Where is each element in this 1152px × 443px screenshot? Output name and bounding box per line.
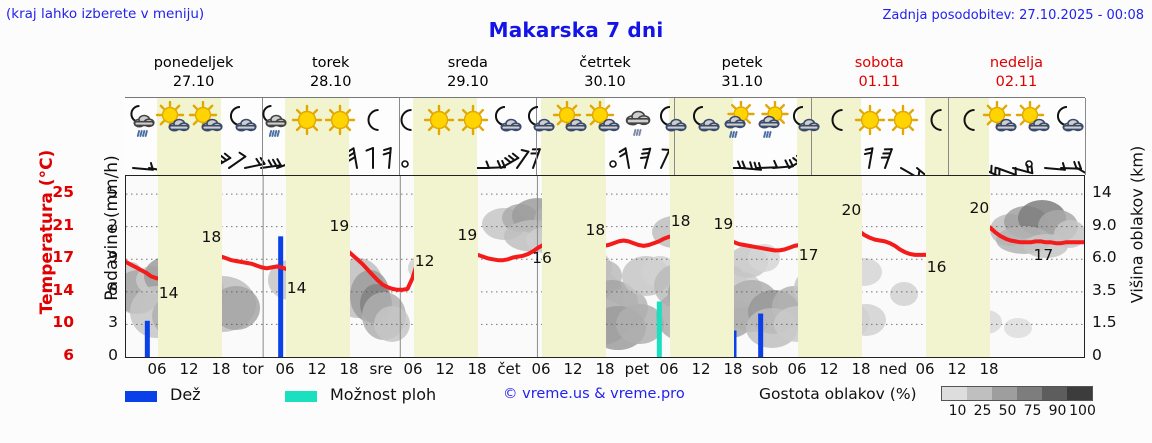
cloud-scale-label: 50 [994,403,1022,419]
temperature-value-label: 17 [1031,246,1055,264]
day-name: nedelja [948,52,1085,73]
temperature-tick: 25 [38,183,74,201]
day-separator [1085,142,1086,175]
temperature-value-label: 19 [455,226,479,244]
day-header-ponedeljek: ponedeljek27.10 [125,52,262,96]
day-separator [674,142,675,175]
x-tick-label: 18 [969,360,1009,378]
cloud-height-tick: 6.0 [1092,248,1132,266]
cloud-density-legend-title: Gostota oblakov (%) [759,385,917,403]
day-name: četrtek [536,52,673,73]
day-header-četrtek: četrtek30.10 [536,52,673,96]
cloud-height-tick: 0 [1092,346,1132,364]
weather-icon-row [125,97,1085,142]
day-date: 29.10 [399,73,536,92]
precipitation-tick: 0 [88,346,118,364]
rain-legend-swatch [125,391,157,402]
day-date: 02.11 [948,73,1085,92]
temperature-value-label: 14 [157,284,181,302]
day-name: sreda [399,52,536,73]
temperature-value-label: 16 [530,249,554,267]
precipitation-tick: 9 [88,248,118,266]
meteogram-plot: 141814191219161818191720162017 [125,175,1085,358]
temperature-tick: 10 [38,313,74,331]
day-name: petek [674,52,811,73]
day-date: 27.10 [125,73,262,92]
legend: Dež Možnost ploh © vreme.us & vreme.pro … [125,385,1145,435]
day-name: ponedeljek [125,52,262,73]
showers-legend-swatch [285,391,317,402]
temperature-value-label: 12 [413,252,437,270]
precipitation-tick: 3 [88,313,118,331]
temperature-value-label: 19 [327,217,351,235]
precipitation-tick: 6 [88,281,118,299]
cloud-scale-segment [992,387,1017,400]
cloud-height-tick: 1.5 [1092,313,1132,331]
temperature-value-label: 18 [199,228,223,246]
day-name: torek [262,52,399,73]
daytime-band [286,176,350,357]
day-header-torek: torek28.10 [262,52,399,96]
precipitation-tick: 5 [88,183,118,201]
daytime-band [158,176,222,357]
day-header-sreda: sreda29.10 [399,52,536,96]
daytime-band [669,142,733,175]
day-date: 01.11 [811,73,948,92]
daytime-band [925,142,989,175]
cloud-scale-label: 75 [1019,403,1047,419]
cloud-scale-label: 25 [969,403,997,419]
daytime-band [285,142,349,175]
rain-legend-label: Dež [170,385,201,404]
meteogram-page: (kraj lahko izberete v meniju) Makarska … [0,0,1152,443]
day-separator [399,142,400,175]
day-header-band: ponedeljek27.10torek28.10sreda29.10četrt… [125,52,1085,96]
cloud-density-color-scale [941,386,1093,401]
cloud-height-tick-labels: 149.06.03.51.50 [1092,175,1138,358]
temperature-value-label: 18 [583,221,607,239]
cloud-scale-segment [942,387,967,400]
cloud-scale-label: 10 [944,403,972,419]
cloud-scale-segment [1017,387,1042,400]
day-date: 31.10 [674,73,811,92]
cloud-scale-segment [1042,387,1067,400]
day-separator [262,142,263,175]
daytime-band [541,142,605,175]
temperature-tick: 17 [38,248,74,266]
temperature-value-label: 19 [711,215,735,233]
precipitation-tick: 2 [88,216,118,234]
day-separator [536,142,537,175]
cloud-scale-label: 90 [1044,403,1072,419]
cloud-height-tick: 3.5 [1092,281,1132,299]
precipitation-tick-labels: 529630 [88,175,118,358]
temperature-value-label: 18 [669,212,693,230]
cloud-scale-segment [967,387,992,400]
moon-cloud-icon [1048,101,1088,141]
daytime-band [413,142,477,175]
copyright-link[interactable]: © vreme.us & vreme.pro [503,386,685,402]
day-date: 30.10 [536,73,673,92]
day-header-nedelja: nedelja02.11 [948,52,1085,96]
day-header-petek: petek31.10 [674,52,811,96]
daytime-band [797,142,861,175]
temperature-value-label: 20 [839,201,863,219]
wind-barb-row [125,142,1085,175]
day-header-sobota: sobota01.11 [811,52,948,96]
daytime-band [157,142,221,175]
day-name: sobota [811,52,948,73]
cloud-height-tick: 14 [1092,183,1132,201]
day-date: 28.10 [262,73,399,92]
cloud-height-tick: 9.0 [1092,216,1132,234]
temperature-value-label: 16 [925,258,949,276]
temperature-value-label: 17 [797,246,821,264]
cloud-scale-segment [1067,387,1092,400]
daytime-band [670,176,734,357]
showers-legend-label: Možnost ploh [330,385,436,404]
day-separator [948,142,949,175]
x-axis-tick-labels: 061218tor061218sre061218čet061218pet0612… [125,360,1085,380]
temperature-tick-labels: 25211714106 [38,175,74,358]
last-update-label: Zadnja posodobitev: 27.10.2025 - 00:08 [882,8,1144,23]
temperature-value-label: 20 [967,199,991,217]
temperature-value-label: 14 [285,279,309,297]
temperature-tick: 14 [38,281,74,299]
temperature-tick: 6 [38,346,74,364]
cloud-scale-label: 100 [1069,403,1097,419]
day-separator [811,142,812,175]
temperature-tick: 21 [38,216,74,234]
cloud-density-scale-labels: 1025507590100 [933,403,1113,421]
